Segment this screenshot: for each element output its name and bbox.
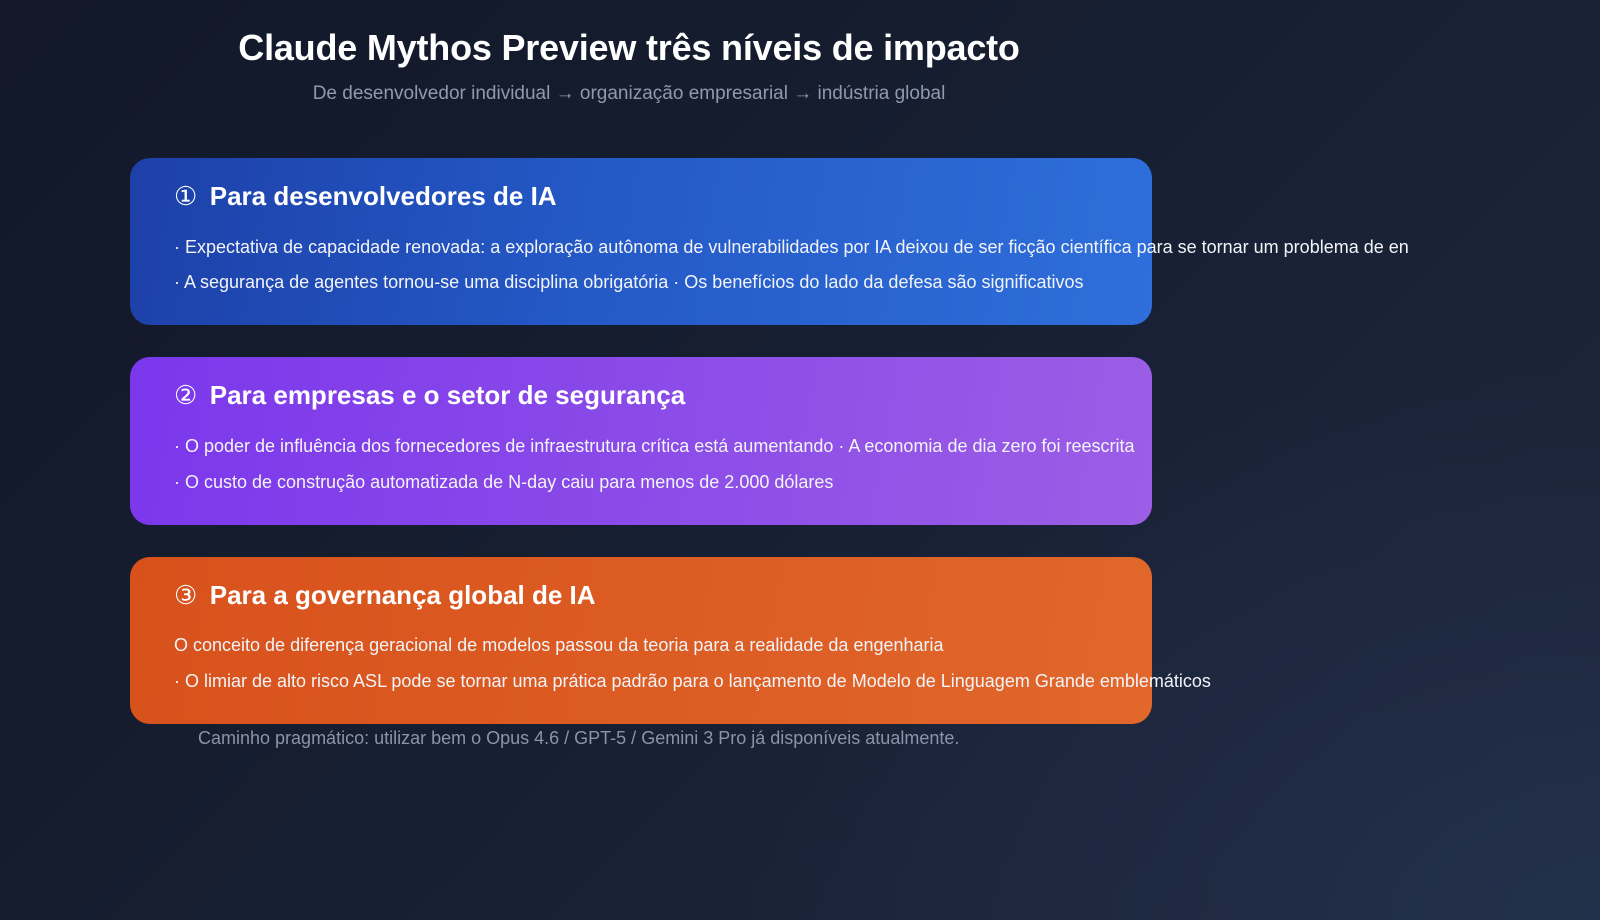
circled-number-2-icon: ②	[174, 380, 203, 410]
impact-card-2-body: · O poder de influência dos fornecedores…	[130, 429, 1152, 501]
impact-card-2-line-2: · O custo de construção automatizada de …	[174, 465, 1152, 501]
impact-card-3-heading-text: Para a governança global de IA	[210, 580, 596, 610]
footer-note: Caminho pragmático: utilizar bem o Opus …	[198, 726, 959, 751]
page-subtitle: De desenvolvedor individual → organizaçã…	[0, 82, 1258, 107]
circled-number-1-icon: ①	[174, 181, 203, 211]
impact-card-2[interactable]: ② Para empresas e o setor de segurança ·…	[130, 357, 1152, 524]
impact-card-1-heading: ① Para desenvolvedores de IA	[130, 180, 1152, 213]
impact-card-2-heading: ② Para empresas e o setor de segurança	[130, 379, 1152, 412]
impact-card-1-line-2: · A segurança de agentes tornou-se uma d…	[174, 265, 1152, 301]
impact-card-3-line-2: · O limiar de alto risco ASL pode se tor…	[174, 664, 1152, 700]
page-title: Claude Mythos Preview três níveis de imp…	[0, 26, 1258, 69]
impact-card-2-line-1: · O poder de influência dos fornecedores…	[174, 429, 1152, 465]
slide-canvas: Claude Mythos Preview três níveis de imp…	[0, 0, 1600, 920]
impact-card-1-body: · Expectativa de capacidade renovada: a …	[130, 230, 1152, 302]
impact-card-1-heading-text: Para desenvolvedores de IA	[210, 181, 557, 211]
impact-card-1[interactable]: ① Para desenvolvedores de IA · Expectati…	[130, 158, 1152, 325]
impact-card-3-body: O conceito de diferença geracional de mo…	[130, 628, 1152, 700]
impact-card-2-heading-text: Para empresas e o setor de segurança	[210, 380, 685, 410]
impact-card-1-line-1: · Expectativa de capacidade renovada: a …	[174, 230, 1152, 266]
impact-card-3-line-1: O conceito de diferença geracional de mo…	[174, 628, 1152, 664]
circled-number-3-icon: ③	[174, 580, 203, 610]
impact-card-list: ① Para desenvolvedores de IA · Expectati…	[130, 158, 1152, 756]
impact-card-3[interactable]: ③ Para a governança global de IA O conce…	[130, 557, 1152, 724]
slide-header: Claude Mythos Preview três níveis de imp…	[0, 26, 1258, 107]
impact-card-3-heading: ③ Para a governança global de IA	[130, 579, 1152, 612]
